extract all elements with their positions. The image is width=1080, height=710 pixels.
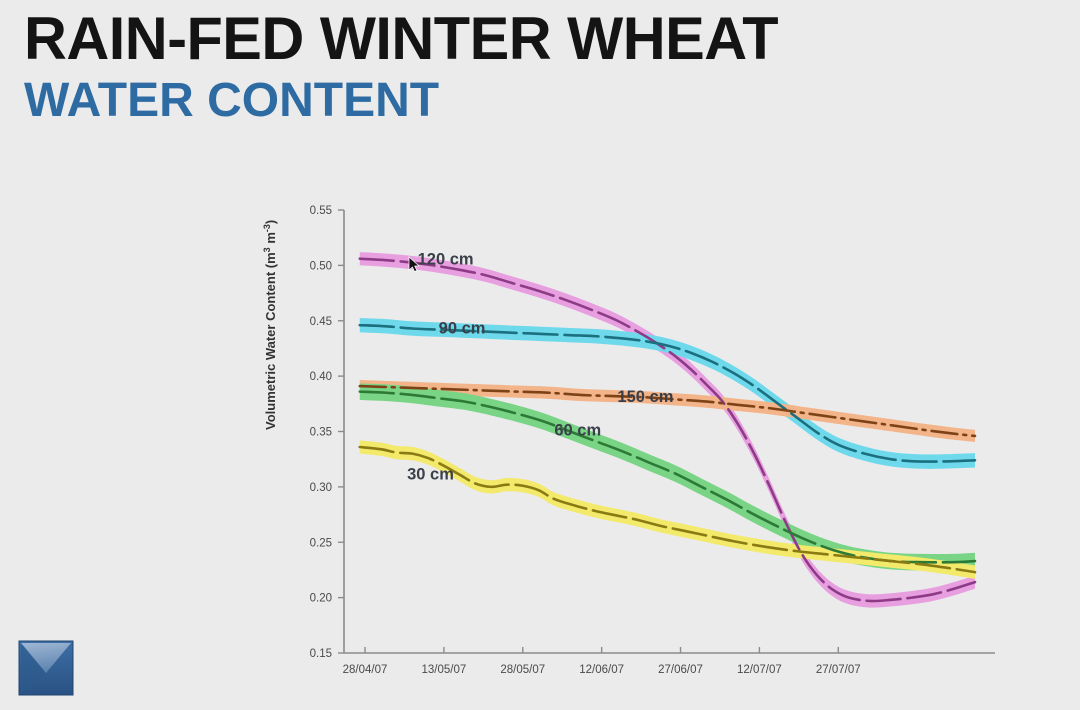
y-tick-label: 0.55 <box>310 205 332 217</box>
x-tick-label: 27/07/07 <box>816 664 861 676</box>
series-bands-group <box>360 252 975 608</box>
series-labels-group: 120 cm90 cm150 cm60 cm30 cm <box>407 251 673 484</box>
series-band-120-cm <box>360 252 975 608</box>
page-title: RAIN-FED WINTER WHEAT <box>24 6 1054 72</box>
slide-header: RAIN-FED WINTER WHEAT WATER CONTENT <box>24 6 1064 128</box>
series-band-30-cm <box>360 440 975 578</box>
x-tick-label: 13/05/07 <box>422 664 467 676</box>
y-axis-ticks: 0.550.500.450.400.350.300.250.200.15 <box>310 205 344 660</box>
series-label-30-cm: 30 cm <box>407 466 454 484</box>
y-axis-title: Volumetric Water Content (m3 m-3) <box>262 220 278 430</box>
series-band-90-cm <box>360 318 975 469</box>
y-tick-label: 0.25 <box>310 537 332 549</box>
svg-text:Volumetric Water Content (m3 m: Volumetric Water Content (m3 m-3) <box>262 220 278 430</box>
series-line-60-cm <box>360 392 975 563</box>
y-axis-title-sup1: 3 <box>262 247 272 252</box>
y-axis-title-text: Volumetric Water Content (m <box>263 252 278 430</box>
x-axis-ticks: 28/04/0713/05/0728/05/0712/06/0727/06/07… <box>343 647 861 676</box>
series-band-60-cm <box>360 383 975 570</box>
brand-logo-icon <box>18 640 74 696</box>
series-line-90-cm <box>360 325 975 461</box>
x-tick-label: 12/06/07 <box>579 664 624 676</box>
series-band-150-cm <box>360 380 975 442</box>
series-label-90-cm: 90 cm <box>439 319 486 337</box>
y-tick-label: 0.35 <box>310 427 332 439</box>
y-axis-title-mid: m <box>263 232 278 247</box>
y-axis-title-close: ) <box>263 220 278 224</box>
y-axis-title-sup2: -3 <box>262 224 272 232</box>
series-line-30-cm <box>360 447 975 572</box>
y-tick-label: 0.45 <box>310 316 332 328</box>
x-tick-label: 27/06/07 <box>658 664 703 676</box>
page-subtitle: WATER CONTENT <box>24 74 1064 128</box>
y-tick-label: 0.30 <box>310 482 332 494</box>
mouse-cursor-icon <box>409 257 419 272</box>
y-tick-label: 0.20 <box>310 593 332 605</box>
x-tick-label: 28/05/07 <box>500 664 545 676</box>
series-line-120-cm <box>360 259 975 601</box>
y-tick-label: 0.15 <box>310 648 332 660</box>
x-tick-label: 12/07/07 <box>737 664 782 676</box>
series-line-150-cm <box>360 386 975 436</box>
series-lines-group <box>360 259 975 601</box>
series-label-150-cm: 150 cm <box>617 388 673 406</box>
series-label-60-cm: 60 cm <box>554 421 601 439</box>
y-tick-label: 0.40 <box>310 371 332 383</box>
x-tick-label: 28/04/07 <box>343 664 388 676</box>
brand-logo <box>18 640 74 696</box>
y-tick-label: 0.50 <box>310 260 332 272</box>
series-label-120-cm: 120 cm <box>418 251 474 269</box>
